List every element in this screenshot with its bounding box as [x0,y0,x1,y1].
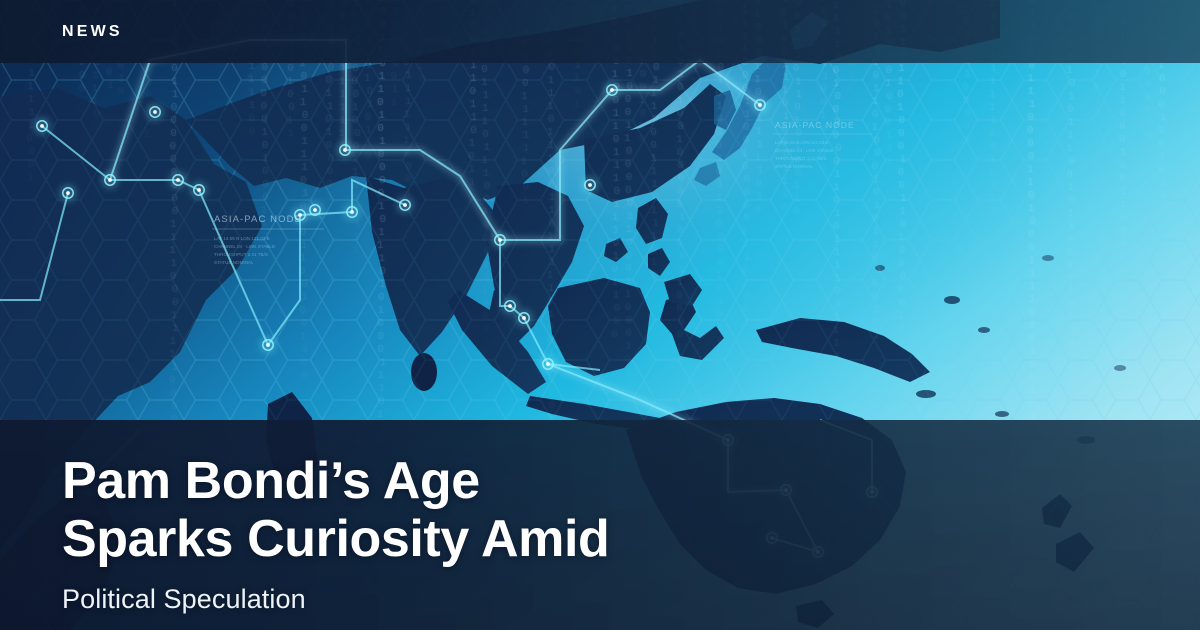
svg-text:THROUGHPUT 2.41 TB/S: THROUGHPUT 2.41 TB/S [775,156,827,161]
news-kicker-label: NEWS [62,24,123,40]
subheadline-text: Political Speculation [62,583,1062,615]
svg-text:CHANNEL 04 · LINK STABLE: CHANNEL 04 · LINK STABLE [214,244,275,249]
headline-block: Pam Bondi’s Age Sparks Curiosity Amid Po… [62,452,1062,615]
hud-label-text: ASIA-PAC NODE [775,120,855,130]
svg-text:LAT 14.55 N LON 121.02 E: LAT 14.55 N LON 121.02 E [214,236,270,241]
top-overlay-band [0,0,1200,63]
hud-label-text: ASIA-PAC NODE [214,214,302,225]
headline-text: Pam Bondi’s Age Sparks Curiosity Amid [62,452,1062,568]
svg-text:CHANNEL 04 · LINK STABLE: CHANNEL 04 · LINK STABLE [775,148,833,153]
svg-text:STATUS NOMINAL: STATUS NOMINAL [214,260,254,265]
svg-text:STATUS NOMINAL: STATUS NOMINAL [775,164,813,169]
news-card: ASIA-PAC NODE LAT 14.55 N LON 121.02 E C… [0,0,1200,630]
svg-text:THROUGHPUT 2.41 TB/S: THROUGHPUT 2.41 TB/S [214,252,268,257]
svg-text:LAT 14.55 N LON 121.02 E: LAT 14.55 N LON 121.02 E [775,140,828,145]
